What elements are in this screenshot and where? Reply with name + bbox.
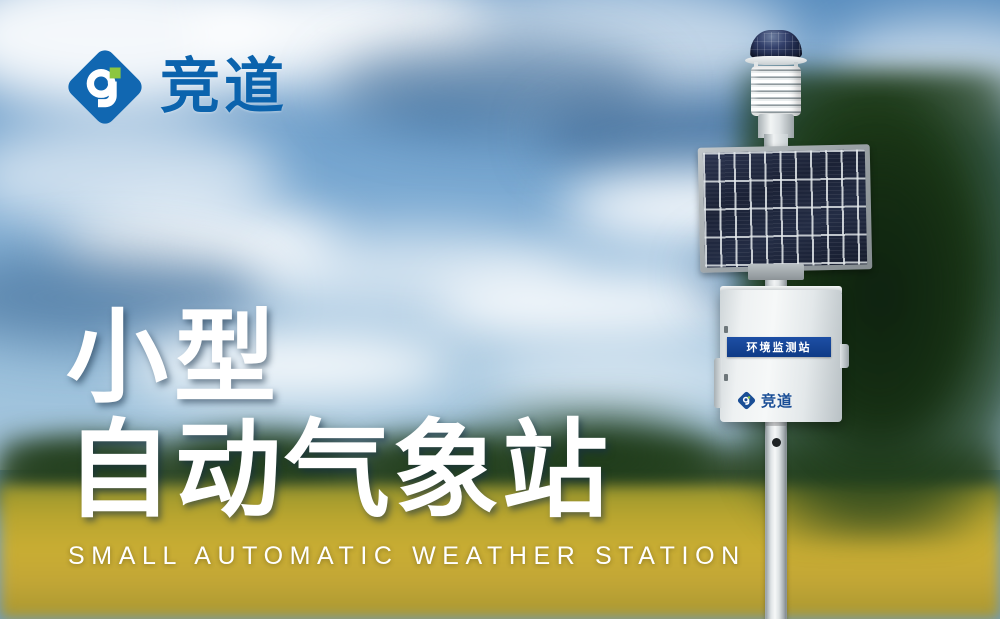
solar-panel-frame: [698, 144, 873, 273]
solar-panel-bracket: [748, 264, 804, 280]
control-box-brand-label: 竞道: [761, 390, 793, 411]
brand-logo[interactable]: 竞道: [66, 48, 288, 126]
sensor-dome-facets: [750, 32, 802, 58]
control-box-banner-label: 环境监测站: [747, 339, 812, 355]
control-box-screw: [724, 374, 728, 381]
control-box-latch-right: [840, 344, 849, 368]
headline-line-2: 自动气象站: [66, 418, 611, 524]
solar-panel: [698, 144, 873, 273]
mounting-pole-lower: [766, 426, 786, 619]
control-box-brand: 竞道: [737, 389, 823, 411]
radiation-shield: [751, 66, 801, 116]
jingdao-diamond-logo-icon: [737, 391, 756, 410]
control-box-banner: 环境监测站: [727, 337, 831, 357]
control-box-hinge-left: [714, 358, 722, 408]
pole-bolt: [772, 438, 781, 447]
product-banner: 环境监测站 竞道 竞道: [0, 0, 1000, 619]
headline: 小型 自动气象站: [66, 308, 611, 524]
jingdao-diamond-logo-icon: [66, 48, 144, 126]
weather-station: 环境监测站 竞道: [690, 26, 880, 619]
brand-name: 竞道: [160, 57, 288, 117]
solar-panel-cells: [703, 149, 867, 267]
subtitle: SMALL AUTOMATIC WEATHER STATION: [68, 542, 746, 571]
control-box-screw: [724, 326, 728, 333]
ultrasonic-weather-sensor: [738, 26, 814, 156]
headline-line-1: 小型: [66, 308, 611, 410]
